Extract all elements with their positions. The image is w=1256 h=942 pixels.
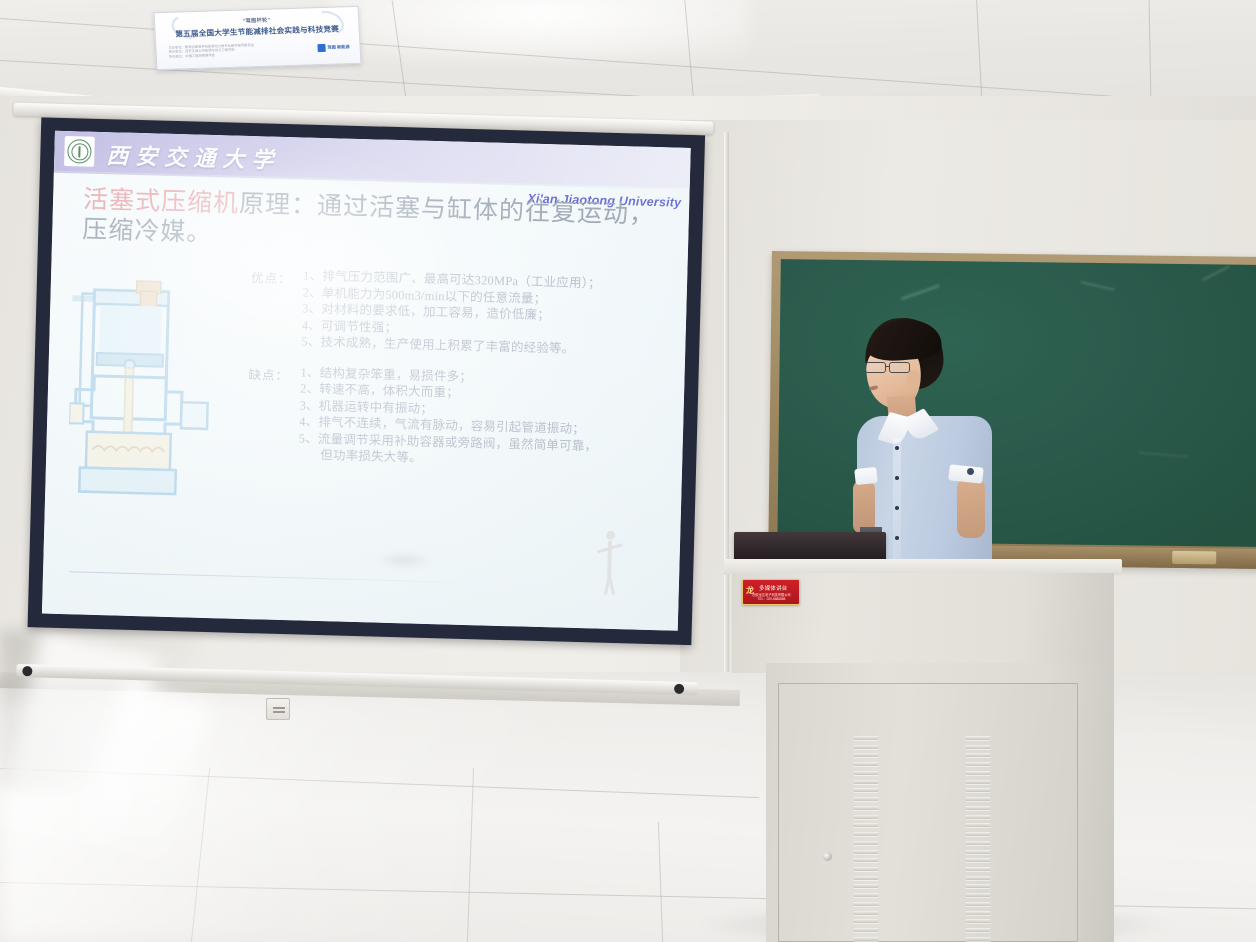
presenter-right-arm <box>957 478 985 538</box>
slide-smudge <box>373 551 433 571</box>
presenter-shirt-button <box>895 536 899 540</box>
xjtu-seal-logo <box>64 136 95 167</box>
slide-body: 优点： 1、排气压力范围广、最高可达320MPa（工业应用）； 2、单机能力为5… <box>51 261 687 278</box>
slide-text-column: 优点： 1、排气压力范围广、最高可达320MPa（工业应用）； 2、单机能力为5… <box>246 266 672 487</box>
hanging-banner: “驾图杯轮” 第五届全国大学生节能减排社会实践与科技竞赛 主办单位：教育部高等学… <box>154 6 362 70</box>
chalk-smudge <box>1081 281 1115 290</box>
lectern-manufacturer-label: 龙 多媒体讲台 西安龙达电子科技有限公司 TEL：029-8888888 <box>742 579 800 605</box>
presenter-glasses <box>865 362 915 374</box>
slide-divider-line <box>69 571 459 583</box>
lectern-lower-cabinet <box>766 663 1114 942</box>
cabinet-lock-icon[interactable] <box>823 852 832 861</box>
chalk-smudge <box>1138 452 1188 458</box>
lectern-upper-body: 龙 多媒体讲台 西安龙达电子科技有限公司 TEL：029-8888888 <box>732 573 1114 673</box>
presentation-slide: 西安交通大学 Xi'an Jiaotong University 活塞式压缩机原… <box>42 131 691 631</box>
presenter-shirt-button <box>895 476 899 480</box>
advantages-items: 1、排气压力范围广、最高可达320MPa（工业应用）； 2、单机能力为500m3… <box>301 268 671 360</box>
presenter-cuff-badge <box>967 468 974 475</box>
cabinet-door[interactable] <box>778 683 1078 942</box>
screen-frame: 西安交通大学 Xi'an Jiaotong University 活塞式压缩机原… <box>28 117 706 645</box>
chalk-smudge <box>1202 266 1230 282</box>
university-name-cn: 西安交通大学 <box>106 138 281 175</box>
screen-handle-left-icon <box>22 666 32 676</box>
sponsor-mark-icon <box>317 44 325 52</box>
compressor-svg <box>67 271 248 511</box>
label-title: 多媒体讲台 <box>759 584 787 592</box>
wall-power-outlet[interactable] <box>266 698 290 720</box>
screen-surface: 西安交通大学 Xi'an Jiaotong University 活塞式压缩机原… <box>42 131 691 631</box>
advantages-group: 优点： 1、排气压力范围广、最高可达320MPa（工业应用）； 2、单机能力为5… <box>249 266 671 360</box>
presenter-shirt-button <box>895 506 899 510</box>
laptop-on-lectern[interactable] <box>734 532 886 560</box>
advantages-label: 优点： <box>251 267 292 287</box>
ventilation-louver <box>853 736 879 941</box>
sponsor-name: 驾图 新能源 <box>327 44 349 51</box>
disadvantages-label: 缺点： <box>248 364 289 384</box>
ventilation-louver <box>965 736 991 941</box>
lectern-cabinet[interactable]: 龙 多媒体讲台 西安龙达电子科技有限公司 TEL：029-8888888 <box>724 559 1122 942</box>
slide-title-line2: 压缩冷媒。 <box>82 217 213 248</box>
banner-sponsor-logo: 驾图 新能源 <box>317 43 350 52</box>
projector-screen: 西安交通大学 Xi'an Jiaotong University 活塞式压缩机原… <box>11 109 704 677</box>
label-subtext: 西安龙达电子科技有限公司 TEL：029-8888888 <box>747 593 796 601</box>
screen-handle-right-icon <box>674 684 684 694</box>
slide-watermark-figure <box>593 530 629 595</box>
chalkboard-eraser[interactable] <box>1172 551 1216 565</box>
disadvantages-group: 缺点： 1、结构复杂笨重，易损件多； 2、转速不高，体积大而重； 3、机器运转中… <box>246 363 669 473</box>
slide-title-highlight: 活塞式压缩机 <box>83 187 240 218</box>
presenter-left-arm <box>853 480 875 534</box>
presenter-shirt-button <box>895 446 899 450</box>
piston-compressor-cross-section-diagram <box>67 271 248 511</box>
disadvantages-items: 1、结构复杂笨重，易损件多； 2、转速不高，体积大而重； 3、机器运转中有振动；… <box>298 364 669 473</box>
presenter-sleeve-cuff <box>948 464 983 483</box>
classroom-scene: “驾图杯轮” 第五届全国大学生节能减排社会实践与科技竞赛 主办单位：教育部高等学… <box>0 0 1256 942</box>
banner-body-text: 主办单位：教育部高等学校能源动力类专业教学指导委员会 承办单位：西安交通大学能源… <box>168 42 299 59</box>
chalk-smudge <box>901 284 940 300</box>
presenter-sleeve-cuff <box>854 467 878 485</box>
